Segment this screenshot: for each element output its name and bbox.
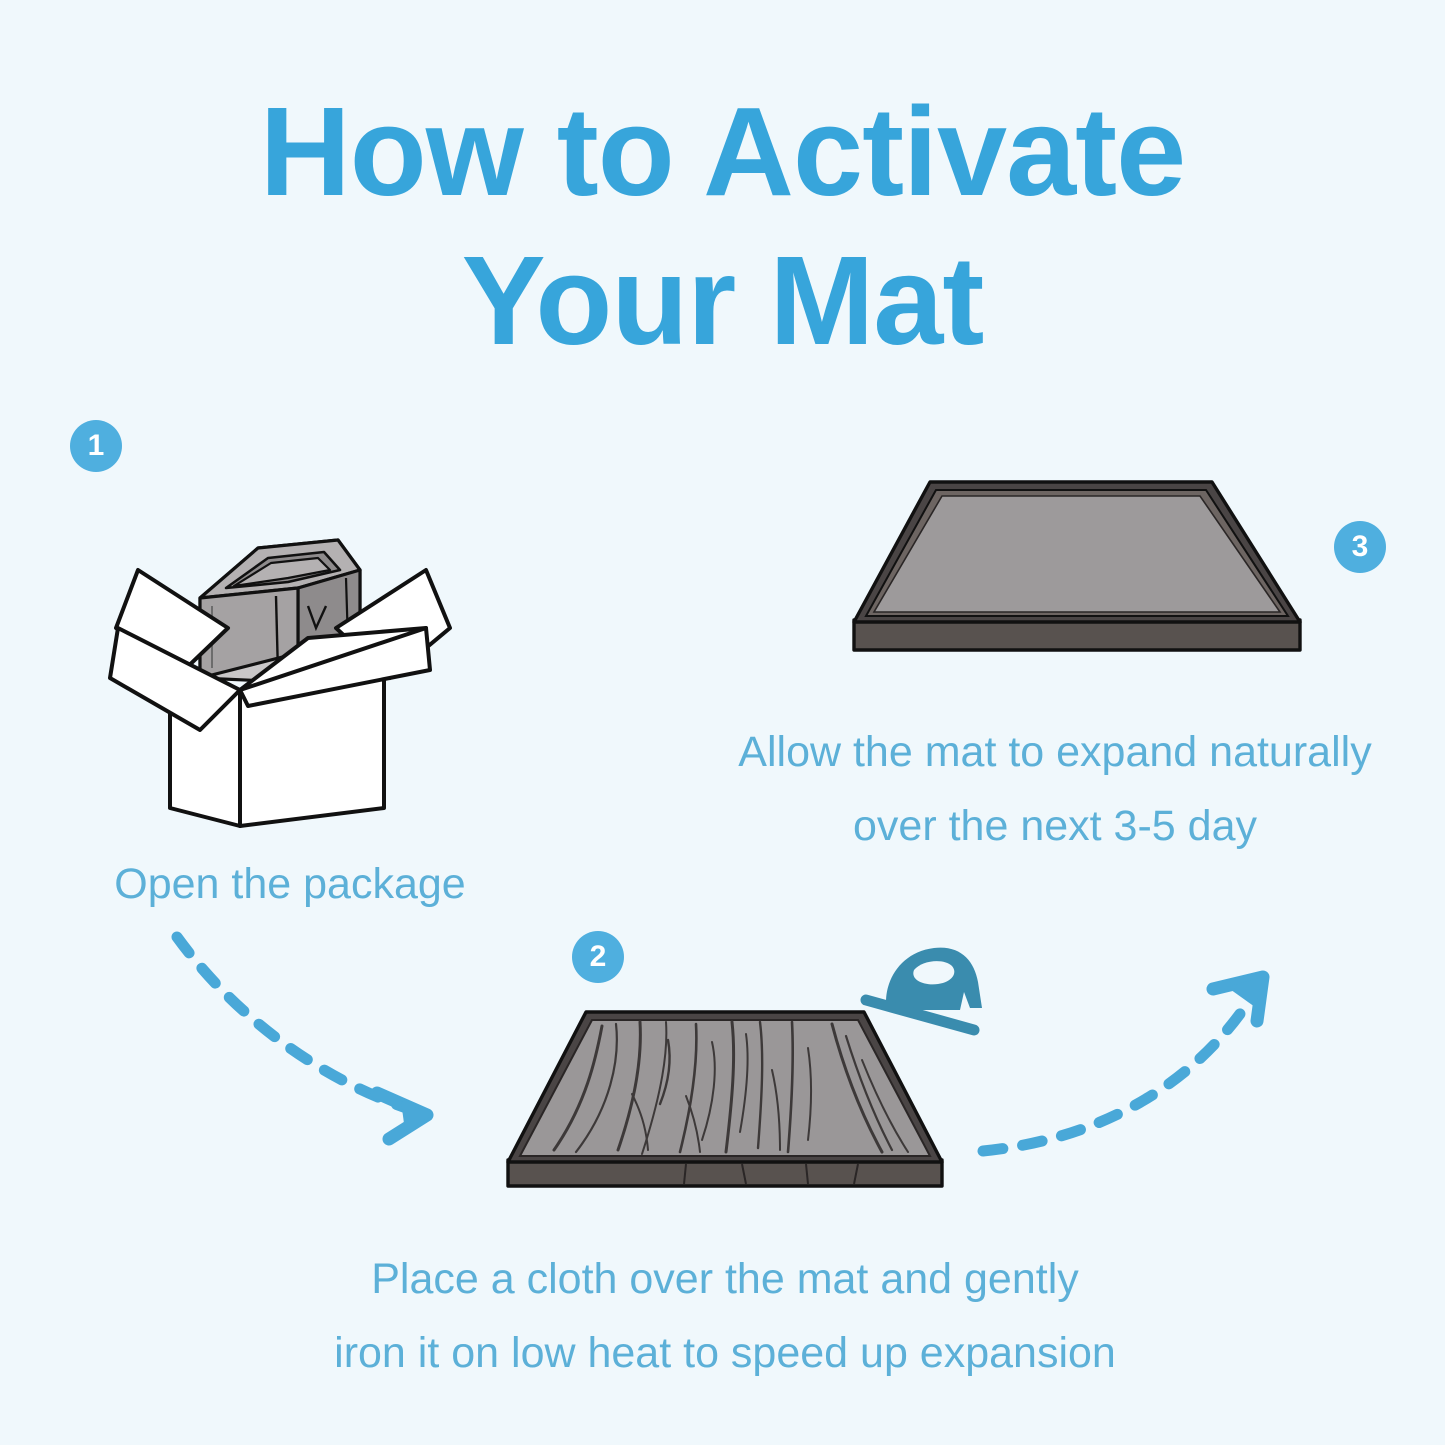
open-box-icon [108, 478, 456, 826]
step-1-badge: 1 [70, 420, 122, 472]
dashed-arrow-up-right-icon [975, 955, 1295, 1185]
flat-mat-icon [830, 470, 1320, 670]
page-title-line-2: Your Mat [0, 227, 1445, 376]
step-3-caption: Allow the mat to expand naturally over t… [660, 716, 1445, 864]
step-3-badge: 3 [1334, 521, 1386, 573]
dashed-arrow-down-right-icon [165, 925, 495, 1155]
step-2-caption: Place a cloth over the mat and gently ir… [230, 1243, 1220, 1391]
page-title-line-1: How to Activate [260, 81, 1185, 222]
infographic-page: How to Activate Your Mat 1 [0, 0, 1445, 1445]
step-1-caption: Open the package [40, 848, 540, 922]
step-2-badge: 2 [572, 931, 624, 983]
wrinkled-mat-icon [490, 1000, 960, 1220]
page-title: How to Activate Your Mat [0, 78, 1445, 375]
